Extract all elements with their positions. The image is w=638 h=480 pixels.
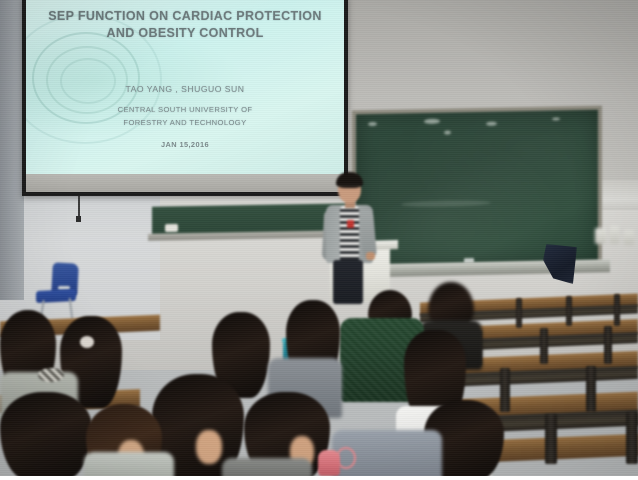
- slide-authors: TAO YANG , SHUGUO SUN: [34, 84, 336, 94]
- ledge-jar-1: [595, 228, 606, 244]
- presenter-trousers: [333, 260, 363, 304]
- left-wall-pillar: [0, 0, 24, 300]
- bench-leg-4: [614, 294, 620, 326]
- presenter-striped-shirt: [340, 206, 359, 261]
- chalkboard-eraser: [165, 224, 178, 232]
- ledge-jar-3: [624, 230, 634, 245]
- slide-affiliation: CENTRAL SOUTH UNIVERSITY OF FORESTRY AND…: [34, 104, 336, 129]
- bench-leg-6: [540, 328, 548, 364]
- slide-date: JAN 15,2016: [34, 140, 336, 149]
- audience-face-1: [196, 430, 222, 464]
- presenter-glasses: [339, 185, 360, 190]
- pink-water-bottle: [318, 450, 340, 476]
- slide-title: SEP FUNCTION ON CARDIAC PROTECTION AND O…: [34, 8, 336, 42]
- slide-watermark-ring-3: [60, 58, 116, 104]
- bench-leg-9: [586, 366, 596, 412]
- slide-affiliation-line2: FORESTRY AND TECHNOLOGY: [34, 117, 336, 130]
- presenter: [318, 172, 382, 304]
- bench-leg-2: [516, 298, 522, 328]
- photo-bottom-border: [0, 476, 638, 480]
- ledge-jar-2: [610, 226, 619, 244]
- screen-pull-cord-tip: [76, 216, 81, 222]
- hair-scrunchie: [38, 368, 64, 382]
- bench-leg-7: [604, 326, 612, 364]
- bench-leg-10: [545, 414, 557, 464]
- hair-tie: [80, 336, 94, 348]
- slide-affiliation-line1: CENTRAL SOUTH UNIVERSITY OF: [34, 104, 336, 117]
- audience-hair-front-3: [0, 392, 92, 480]
- presenter-hand: [366, 252, 375, 260]
- lecture-hall-photo: SEP FUNCTION ON CARDIAC PROTECTION AND O…: [0, 0, 638, 480]
- projection-screen: SEP FUNCTION ON CARDIAC PROTECTION AND O…: [22, 0, 348, 196]
- bench-leg-8: [500, 368, 510, 412]
- bench-leg-3: [566, 296, 572, 326]
- screen-pull-cord: [78, 196, 80, 218]
- presenter-badge: [347, 220, 354, 228]
- presentation-slide: SEP FUNCTION ON CARDIAC PROTECTION AND O…: [26, 0, 344, 174]
- bench-leg-11: [626, 412, 638, 464]
- screen-bottom-bar: [26, 174, 344, 192]
